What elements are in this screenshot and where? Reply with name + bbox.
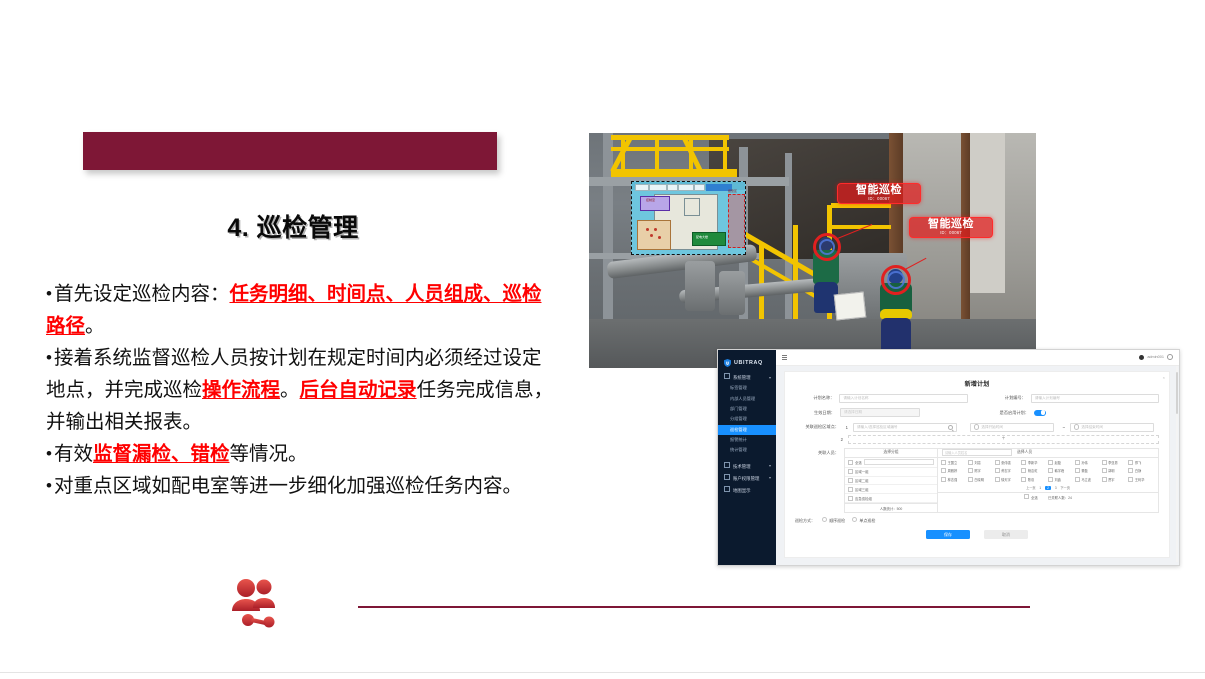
ar-tag: 智能巡检 ID：00067 bbox=[837, 183, 921, 204]
save-button[interactable]: 保存 bbox=[926, 530, 970, 539]
name-checkbox[interactable]: 贾宇 bbox=[1102, 477, 1129, 482]
group-people-share-icon bbox=[228, 578, 286, 630]
app-sidebar: UBITRAQ 系统管理 ▾ 标签管理 内部人员管理 部门管理 分组管理 巡检管… bbox=[718, 350, 776, 565]
highlight-segment: 监督漏检、错检 bbox=[93, 443, 230, 465]
people-picker-groups: 选择分组 全选 区域一组 bbox=[845, 449, 938, 513]
checkbox[interactable] bbox=[1021, 477, 1026, 482]
form-row: 生效日期： 请选择日期 是否启用计划： bbox=[795, 408, 1159, 417]
sidebar-group-label: 技术管理 bbox=[724, 462, 751, 470]
name-checkbox[interactable]: 林志强 bbox=[941, 477, 968, 482]
hmi-floorplan-panel: 控制室 配电大楼 报警区 bbox=[631, 181, 746, 255]
photo-stair-post bbox=[793, 225, 798, 323]
name-checkbox[interactable]: 郭明 bbox=[1102, 468, 1129, 473]
photo-steel-column bbox=[603, 133, 613, 333]
photo-yellow-platform bbox=[611, 169, 737, 177]
radio-single-point[interactable]: 单点巡检 bbox=[852, 517, 875, 524]
form-title: 新增计划 bbox=[785, 379, 1169, 388]
pagination-page[interactable]: 3 bbox=[1054, 486, 1058, 490]
field-label-related-people: 关联人员： bbox=[795, 448, 839, 456]
bullet-paragraph-2: •接着系统监督巡检人员按计划在规定时间内必须经过设定地点，并完成巡检操作流程。后… bbox=[46, 342, 554, 438]
groups-footer-count: 人数统计：500 bbox=[845, 503, 937, 512]
app-main: admin001 × 新增计划 计划名称： 请输入计划名称 计划编号： 请输入计… bbox=[776, 350, 1179, 565]
hmi-room-block bbox=[684, 198, 700, 216]
field-label-effective-date: 生效日期： bbox=[795, 410, 835, 416]
chevron-down-icon: ▾ bbox=[769, 375, 771, 380]
chevron-down-icon: ▾ bbox=[769, 475, 771, 480]
sidebar-group-label: 系统管理 bbox=[724, 373, 751, 381]
hmi-label: 控制室 bbox=[646, 198, 655, 202]
group-tree-label: 区域二组 bbox=[855, 478, 869, 483]
radio-sequential[interactable]: 顺序巡检 bbox=[822, 517, 845, 524]
checkbox[interactable] bbox=[1128, 460, 1133, 465]
group-tree-label: 区域三组 bbox=[855, 487, 869, 492]
bullet-marker: • bbox=[46, 348, 54, 367]
text-segment: 对重点区域如配电室等进一步细化加强巡检任务内容。 bbox=[54, 475, 522, 497]
scrollbar[interactable] bbox=[1176, 366, 1179, 562]
photo-tank bbox=[719, 271, 745, 315]
title-banner-bar bbox=[83, 132, 497, 170]
people-picker-row: 关联人员： 选择分组 全选 区域一组 bbox=[795, 448, 1159, 514]
ar-tag-title: 智能巡检 bbox=[915, 219, 987, 231]
people-picker: 选择分组 全选 区域一组 bbox=[844, 448, 1159, 514]
slide-canvas: 4. 巡检管理 •首先设定巡检内容：任务明细、时间点、人员组成、巡检路径。 •接… bbox=[0, 0, 1205, 679]
radio[interactable] bbox=[852, 517, 857, 522]
checkbox[interactable] bbox=[848, 496, 853, 501]
sidebar-item-internal-staff[interactable]: 内部人员管理 bbox=[718, 393, 776, 403]
end-time-input[interactable]: 选择结束时间 bbox=[1070, 423, 1154, 432]
photo-right-wall-panel bbox=[969, 133, 1005, 293]
row-index: 2 bbox=[795, 437, 843, 442]
name-checkbox[interactable]: 陈宇 bbox=[968, 468, 995, 473]
hmi-toolbar-button bbox=[706, 184, 720, 191]
sidebar-item-inspection[interactable]: 巡检管理 bbox=[718, 425, 776, 435]
name-checkbox[interactable]: 李亚男 bbox=[1102, 460, 1129, 465]
group-tree-label: 区域一组 bbox=[855, 469, 869, 474]
ar-target-ring bbox=[881, 265, 911, 295]
field-label-enable-plan: 是否启用计划： bbox=[989, 410, 1029, 416]
highlight-segment: 操作流程 bbox=[202, 379, 280, 401]
shield-icon bbox=[724, 359, 731, 367]
name-checkbox[interactable]: 赵磊 bbox=[1048, 460, 1075, 465]
wrench-icon bbox=[724, 462, 730, 468]
grid-icon bbox=[724, 373, 730, 379]
bullet-paragraph-3: •有效监督漏检、错检等情况。 bbox=[46, 438, 554, 470]
selected-count: 已关联人数：24 bbox=[1048, 495, 1072, 500]
topbar-user-area: admin001 bbox=[1139, 354, 1173, 360]
text-segment: 首先设定巡检内容： bbox=[54, 283, 230, 305]
gear-icon[interactable] bbox=[1167, 354, 1173, 360]
pagination-prev[interactable]: 上一页 bbox=[1026, 485, 1036, 490]
range-separator: ~ bbox=[1059, 425, 1065, 430]
bullet-paragraph-1: •首先设定巡检内容：任务明细、时间点、人员组成、巡检路径。 bbox=[46, 278, 554, 342]
group-tree-row[interactable]: 区域一组 bbox=[845, 468, 937, 477]
checkbox[interactable] bbox=[1024, 494, 1029, 499]
group-tree-label: 全选 bbox=[855, 460, 862, 465]
area-point-input[interactable]: 请输入/选择巡检区域编号 bbox=[853, 423, 957, 432]
checkbox[interactable] bbox=[941, 477, 946, 482]
name-checkbox-grid: 王国立 刘霞 张伟强 李新华 赵磊 孙伟 李亚男 郑飞 周雅婷 陈宇 黄志宇 bbox=[938, 458, 1158, 486]
close-icon[interactable]: × bbox=[1163, 375, 1165, 380]
bullet-marker: • bbox=[46, 444, 54, 463]
checkbox[interactable] bbox=[848, 460, 853, 465]
hmi-toolbar-button bbox=[649, 184, 667, 191]
field-label-plan-name: 计划名称： bbox=[795, 395, 834, 401]
name-checkbox[interactable]: 张伟强 bbox=[995, 460, 1022, 465]
checkbox[interactable] bbox=[941, 468, 946, 473]
checkbox[interactable] bbox=[1021, 460, 1026, 465]
page-title: 4. 巡检管理 bbox=[48, 208, 538, 244]
bullet-paragraph-4: •对重点区域如配电室等进一步细化加强巡检任务内容。 bbox=[46, 470, 554, 502]
ar-tag-title: 智能巡检 bbox=[843, 185, 915, 197]
enable-plan-toggle[interactable] bbox=[1034, 410, 1046, 416]
photo-checklist-board bbox=[834, 292, 867, 321]
name-checkbox[interactable]: 刘霞 bbox=[968, 460, 995, 465]
checkbox[interactable] bbox=[968, 477, 973, 482]
checkbox[interactable] bbox=[1102, 460, 1107, 465]
sidebar-item-statistics[interactable]: 统计管理 bbox=[718, 445, 776, 455]
text-segment: 。 bbox=[85, 315, 105, 337]
name-checkbox[interactable]: 郑飞 bbox=[1128, 460, 1155, 465]
user-lock-icon bbox=[724, 474, 730, 480]
name-checkbox[interactable]: 刘鑫 bbox=[1048, 477, 1075, 482]
hmi-toolbar-button bbox=[667, 184, 678, 191]
photo-yellow-post bbox=[655, 135, 659, 171]
clock-icon bbox=[1074, 424, 1079, 429]
bullet-marker: • bbox=[46, 476, 54, 495]
start-time-input[interactable]: 选择开始时间 bbox=[970, 423, 1054, 432]
hmi-toolbar-button bbox=[694, 184, 705, 191]
hmi-toolbar-button bbox=[635, 184, 649, 191]
name-checkbox[interactable]: 王国立 bbox=[941, 460, 968, 465]
checkbox[interactable] bbox=[848, 478, 853, 483]
name-checkbox[interactable]: 杨嘉虹 bbox=[1021, 468, 1048, 473]
sidebar-group-account[interactable]: 账户权限管理 ▾ bbox=[718, 472, 776, 484]
photo-tank bbox=[685, 261, 715, 311]
checkbox[interactable] bbox=[995, 468, 1000, 473]
names-header-label: 选择人员 bbox=[1017, 450, 1032, 455]
map-icon bbox=[724, 486, 730, 492]
body-copy: •首先设定巡检内容：任务明细、时间点、人员组成、巡检路径。 •接着系统监督巡检人… bbox=[46, 278, 554, 502]
row-index: 1 bbox=[844, 425, 848, 430]
group-tree-row[interactable]: 区域二组 bbox=[845, 477, 937, 486]
app-logo: UBITRAQ bbox=[718, 350, 776, 371]
name-checkbox[interactable]: 白晓明 bbox=[968, 477, 995, 482]
name-checkbox[interactable]: 黄志宇 bbox=[995, 468, 1022, 473]
search-icon bbox=[948, 425, 953, 430]
sidebar-group-tech[interactable]: 技术管理 ▾ bbox=[718, 460, 776, 472]
cancel-button[interactable]: 取消 bbox=[984, 530, 1028, 539]
checkbox[interactable] bbox=[968, 468, 973, 473]
checkbox[interactable] bbox=[1075, 460, 1080, 465]
form-actions: 保存 取消 bbox=[785, 530, 1169, 539]
field-label-inspection-mode: 巡检方式： bbox=[795, 518, 815, 524]
checkbox[interactable] bbox=[1048, 468, 1053, 473]
slide-bottom-border bbox=[0, 672, 1205, 673]
hmi-alarm-zone bbox=[728, 194, 745, 248]
checkbox[interactable] bbox=[1075, 477, 1080, 482]
pagination-page[interactable]: 1 bbox=[1038, 486, 1042, 490]
name-checkbox[interactable]: 马立波 bbox=[1075, 477, 1102, 482]
text-segment: 等情况。 bbox=[229, 443, 307, 465]
checkbox[interactable] bbox=[1128, 468, 1133, 473]
checkbox[interactable] bbox=[1128, 477, 1133, 482]
name-checkbox[interactable]: 韩宇峰 bbox=[1048, 468, 1075, 473]
group-search-input[interactable] bbox=[864, 459, 934, 466]
app-topbar: admin001 bbox=[776, 350, 1179, 366]
group-tree-label: 应急巡检组 bbox=[855, 496, 872, 501]
checkbox[interactable] bbox=[1048, 460, 1053, 465]
ar-tag-id: ID：00067 bbox=[843, 197, 915, 201]
hmi-label: 报警区 bbox=[728, 189, 737, 193]
sidebar-group-label: 账户权限管理 bbox=[724, 474, 759, 482]
ar-tag-id: ID：00067 bbox=[915, 231, 987, 235]
hmi-zone-orange bbox=[637, 220, 671, 250]
pagination-next[interactable]: 下一页 bbox=[1060, 485, 1070, 490]
user-name: admin001 bbox=[1147, 355, 1164, 359]
radio[interactable] bbox=[822, 517, 827, 522]
people-picker-names: 请输入人员姓名 选择人员 王国立 刘霞 张伟强 李新华 赵磊 孙伟 李亚男 bbox=[938, 449, 1158, 513]
field-label-area-point: 关联巡检区域点： bbox=[795, 424, 839, 430]
plan-name-input[interactable]: 请输入计划名称 bbox=[839, 394, 967, 403]
name-checkbox[interactable]: 白静 bbox=[1128, 468, 1155, 473]
name-search-input[interactable]: 请输入人员姓名 bbox=[942, 449, 1012, 456]
hmi-label: 配电大楼 bbox=[696, 235, 708, 239]
photo-yellow-railing bbox=[611, 147, 729, 151]
checkbox[interactable] bbox=[1048, 477, 1053, 482]
pagination-page-active[interactable]: 2 bbox=[1045, 486, 1051, 490]
name-checkbox[interactable]: 陈欢 bbox=[1021, 477, 1048, 482]
highlight-segment: 后台自动记录 bbox=[300, 379, 417, 401]
checkbox[interactable] bbox=[995, 477, 1000, 482]
sidebar-item-tag-management[interactable]: 标签管理 bbox=[718, 383, 776, 393]
checkbox[interactable] bbox=[1075, 468, 1080, 473]
app-screenshot: UBITRAQ 系统管理 ▾ 标签管理 内部人员管理 部门管理 分组管理 巡检管… bbox=[717, 349, 1180, 566]
text-segment: 。 bbox=[280, 379, 300, 401]
form-row: 计划名称： 请输入计划名称 计划编号： 请输入计划编号 bbox=[795, 394, 1159, 403]
ar-tag: 智能巡检 ID：00067 bbox=[909, 217, 993, 238]
checkbox[interactable] bbox=[848, 487, 853, 492]
chevron-down-icon: ▾ bbox=[769, 463, 771, 468]
pagination: 上一页 1 2 3 下一页 bbox=[938, 485, 1158, 492]
name-checkbox[interactable]: 孙伟 bbox=[1075, 460, 1102, 465]
hmi-toolbar-button bbox=[678, 184, 694, 191]
form-row: 2 + bbox=[795, 435, 1159, 444]
app-logo-text: UBITRAQ bbox=[734, 360, 763, 366]
checkbox[interactable] bbox=[848, 469, 853, 474]
checkbox[interactable] bbox=[941, 460, 946, 465]
form-row: 关联巡检区域点： 1 请输入/选择巡检区域编号 选择开始时间 ~ 选择结束时间 bbox=[795, 423, 1159, 432]
sidebar-item-alarm-stats[interactable]: 报警统计 bbox=[718, 435, 776, 445]
name-checkbox[interactable]: 董磊 bbox=[1075, 468, 1102, 473]
inspection-photo: 智能巡检 ID：00067 智能巡检 ID：00067 bbox=[589, 133, 1036, 368]
menu-icon[interactable] bbox=[782, 355, 787, 360]
name-checkbox[interactable]: 徐天宇 bbox=[995, 477, 1022, 482]
sidebar-group-label: 地图显示 bbox=[724, 486, 751, 494]
names-header: 请输入人员姓名 选择人员 bbox=[938, 449, 1158, 458]
sidebar-item-group[interactable]: 分组管理 bbox=[718, 414, 776, 424]
names-footer: 全选 已关联人数：24 bbox=[938, 492, 1158, 501]
sidebar-item-map[interactable]: 地图显示 bbox=[718, 484, 776, 496]
new-plan-form-card: × 新增计划 计划名称： 请输入计划名称 计划编号： 请输入计划编号 生效日期：… bbox=[784, 371, 1170, 558]
avatar[interactable] bbox=[1139, 355, 1144, 360]
footer-divider-rule bbox=[358, 606, 1030, 608]
group-tree-row[interactable]: 全选 bbox=[845, 458, 937, 468]
inspection-mode-row: 巡检方式： 顺序巡检 单点巡检 bbox=[795, 517, 1159, 524]
name-checkbox[interactable]: 周雅婷 bbox=[941, 468, 968, 473]
sidebar-item-department[interactable]: 部门管理 bbox=[718, 404, 776, 414]
text-segment: 有效 bbox=[54, 443, 93, 465]
bullet-marker: • bbox=[46, 284, 54, 303]
photo-yellow-post bbox=[723, 135, 727, 171]
effective-date-input[interactable]: 请选择日期 bbox=[840, 408, 920, 417]
group-tree-row[interactable]: 区域三组 bbox=[845, 485, 937, 494]
select-all-checkbox[interactable]: 全选 bbox=[1024, 494, 1038, 500]
name-checkbox[interactable]: 李新华 bbox=[1021, 460, 1048, 465]
checkbox[interactable] bbox=[968, 460, 973, 465]
group-tree-row[interactable]: 应急巡检组 bbox=[845, 494, 937, 503]
checkbox[interactable] bbox=[995, 460, 1000, 465]
checkbox[interactable] bbox=[1021, 468, 1026, 473]
name-checkbox[interactable]: 王利华 bbox=[1128, 477, 1155, 482]
field-label-plan-code: 计划编号： bbox=[987, 395, 1026, 401]
checkbox[interactable] bbox=[1102, 468, 1107, 473]
sidebar-group-system[interactable]: 系统管理 ▾ bbox=[718, 371, 776, 383]
plan-code-input[interactable]: 请输入计划编号 bbox=[1031, 394, 1159, 403]
checkbox[interactable] bbox=[1102, 477, 1107, 482]
clock-icon bbox=[974, 424, 979, 429]
add-area-point-button[interactable]: + bbox=[848, 435, 1159, 444]
groups-header: 选择分组 bbox=[845, 449, 937, 458]
